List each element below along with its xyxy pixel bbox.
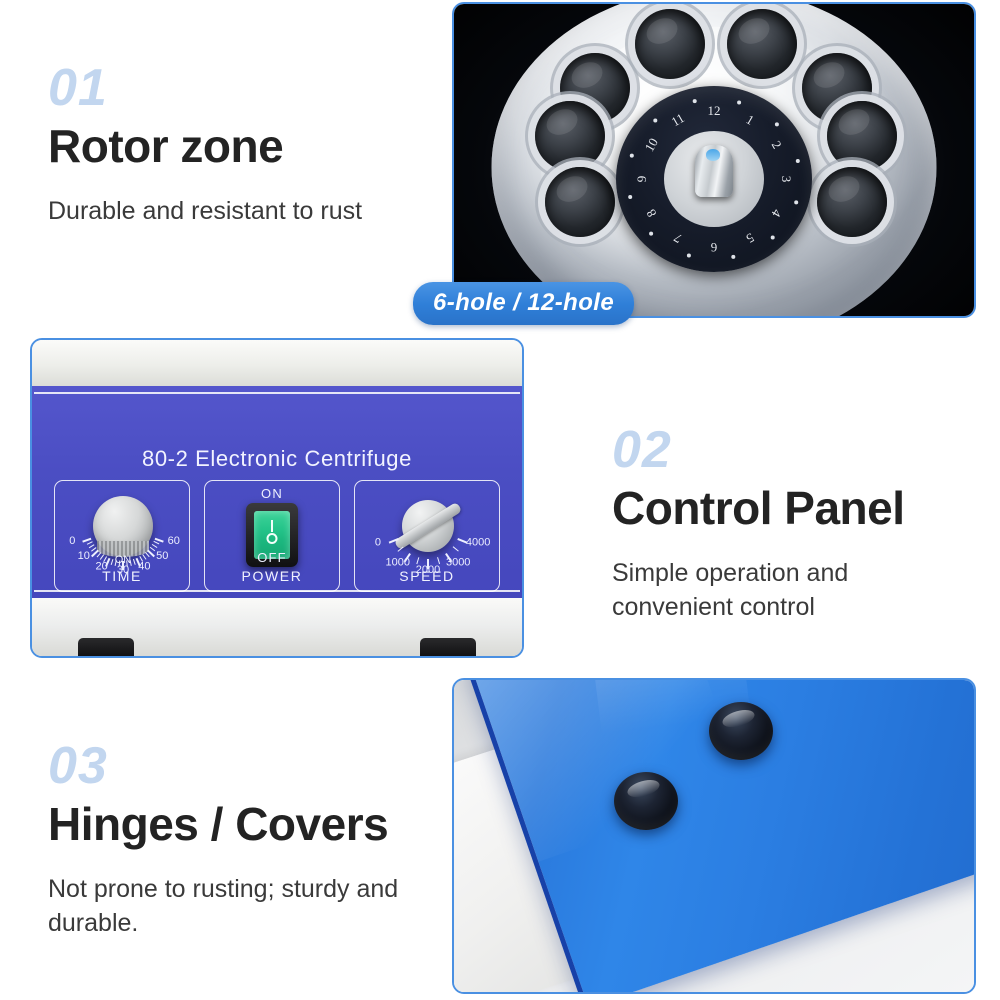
control-panel-photo: 80-2 Electronic Centrifuge 0102030405060… [30,338,524,658]
rotor-hub-dot [737,100,741,104]
rotor-dark-housing: 123456789101112 [454,4,974,316]
rubber-foot-left [78,638,134,658]
product-feature-infographic: 01 Rotor zone Durable and resistant to r… [0,0,1000,1000]
time-dial[interactable]: 0102030405060ON [67,489,179,563]
feature-block-hinges-covers: 03 Hinges / Covers Not prone to rusting;… [48,740,448,941]
rotor-hub-number: 6 [711,239,718,255]
rotor-hub-dot [794,200,798,204]
rotor-hub-number: 12 [708,103,721,119]
rotor-hub-number: 1 [743,111,757,128]
dial-scale-label: 4000 [466,537,490,549]
hinge-scene [454,680,974,992]
power-on-label: ON [205,486,339,501]
rotor-zone-photo: 123456789101112 [452,2,976,318]
speed-knob[interactable] [402,500,454,552]
rotor-hub-number: 4 [768,206,785,220]
rotor-hub-number: 8 [643,206,660,220]
feature-title-01: Rotor zone [48,122,438,172]
rotor-hub-dot [731,255,735,259]
rotor-hub-disc: 123456789101112 [616,86,812,272]
rotor-hub-dot [775,122,779,126]
speed-dial[interactable]: 01000200030004000 [371,489,485,563]
feature-description-02: Simple operation and convenient control [612,556,972,625]
rotor-hub-number: 5 [743,229,757,246]
rotor-hub-number: 11 [669,110,688,130]
dial-scale-label: 3000 [446,557,470,569]
dial-scale-label: 60 [168,535,180,547]
dial-scale-label: 0 [375,537,381,549]
centrifuge-housing: 80-2 Electronic Centrifuge 0102030405060… [32,340,522,656]
hole-count-badge: 6-hole / 12-hole [413,282,634,325]
power-off-label: OFF [205,550,339,565]
housing-top-band [32,340,522,386]
feature-description-01: Durable and resistant to rust [48,194,438,229]
rotor-hub-dot [653,118,657,122]
rubber-foot-right [420,638,476,658]
power-control-group[interactable]: ON OFF POWER [204,480,340,592]
speed-label: SPEED [355,568,499,584]
rotor-hub-number: 10 [641,135,661,154]
dial-tick [110,559,113,565]
power-label: POWER [205,568,339,584]
rotor-tube-hole [817,167,887,237]
feature-number-01: 01 [48,62,438,114]
feature-number-02: 02 [612,424,972,476]
dial-scale-label: 0 [69,535,75,547]
rotor-center-nut [695,145,733,197]
rotor-hub-dot [687,253,691,257]
dial-scale-label: 50 [156,550,168,562]
rotor-hub-dot [628,195,632,199]
speed-control-group[interactable]: 01000200030004000 SPEED [354,480,500,592]
rotor-hub-number: 3 [778,175,794,182]
rotor-tube-hole [827,101,897,171]
power-on-symbol-icon [271,520,273,532]
dial-tick [452,546,458,551]
blue-faceplate: 80-2 Electronic Centrifuge 0102030405060… [32,386,522,598]
rotor-tube-hole [727,9,797,79]
rotor-tube-hole [545,167,615,237]
hinge-cap-lower [614,772,678,830]
housing-bottom-band [32,598,522,656]
hinge-cap-upper [709,702,773,760]
dial-scale-label: 10 [78,550,90,562]
rotor-tube-hole [535,101,605,171]
panel-brand-text: 80-2 Electronic Centrifuge [32,446,522,472]
rotor-hub-dot [693,99,697,103]
dial-on-marker: ON [115,554,132,566]
feature-block-rotor-zone: 01 Rotor zone Durable and resistant to r… [48,62,438,228]
rotor-hub-dot [630,153,634,157]
rotor-hub-dot [771,235,775,239]
rotor-hub-number: 7 [671,229,685,246]
time-label: TIME [55,568,189,584]
time-control-group[interactable]: 0102030405060ON TIME [54,480,190,592]
dial-scale-label: 1000 [386,557,410,569]
time-knob[interactable] [93,496,153,556]
feature-title-03: Hinges / Covers [48,800,448,850]
power-off-symbol-icon [267,533,278,544]
feature-number-03: 03 [48,740,448,792]
rotor-hub-number: 9 [634,175,650,182]
feature-block-control-panel: 02 Control Panel Simple operation and co… [612,424,972,625]
hinges-covers-photo [452,678,976,994]
faceplate-rule-top [34,392,520,394]
rotor-hub-number: 2 [768,138,785,152]
feature-title-02: Control Panel [612,484,972,534]
rotor-tube-hole [635,9,705,79]
rotor-hub-dot [796,159,800,163]
rotor-hub-dot [649,231,653,235]
feature-description-03: Not prone to rusting; sturdy and durable… [48,872,448,941]
